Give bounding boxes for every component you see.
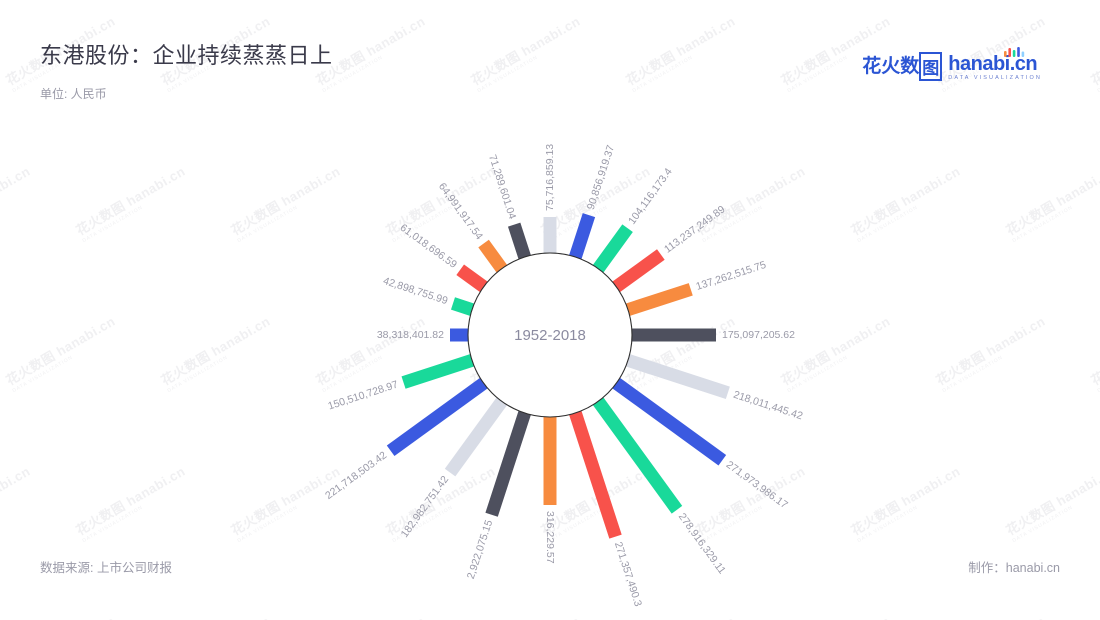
watermark-tile: 花火数图 hanabi.cnDATA VISUALIZATION	[847, 461, 966, 544]
radial-bar[interactable]	[508, 223, 531, 259]
radial-bar[interactable]	[613, 249, 665, 292]
watermark-tile: 花火数图 hanabi.cnDATA VISUALIZATION	[622, 11, 741, 94]
radial-bar-value-label: 316,229.57	[544, 511, 556, 564]
radial-bar[interactable]	[402, 354, 474, 389]
radial-bar-value-label: 271,973,986.17	[724, 459, 790, 512]
radial-bar[interactable]	[569, 213, 595, 259]
watermark-tile: 花火数图 hanabi.cnDATA VISUALIZATION	[1002, 461, 1100, 544]
radial-bar-chart-svg: 75,716,859.1390,856,919.37104,116,173.41…	[325, 110, 775, 560]
radial-bar-rect[interactable]	[632, 329, 716, 342]
watermark-tile: 花火数图 hanabi.cnDATA VISUALIZATION	[157, 311, 276, 394]
data-source-label: 数据来源: 上市公司财报	[40, 557, 172, 576]
radial-bar-value-label: 113,237,249.89	[662, 203, 728, 255]
radial-bar-rect[interactable]	[569, 213, 595, 259]
radial-bar-value-label: 218,011,445.42	[732, 389, 805, 423]
hanabi-logo: 花火数 图 hanabi.cn DATA VISUALIZATION	[862, 52, 1042, 81]
watermark-tile: 花火数图 hanabi.cnDATA VISUALIZATION	[932, 311, 1051, 394]
watermark-tile: 花火数图 hanabi.cnDATA VISUALIZATION	[312, 611, 431, 620]
watermark-tile: 花火数图 hanabi.cnDATA VISUALIZATION	[1087, 11, 1100, 94]
watermark-tile: 花火数图 hanabi.cnDATA VISUALIZATION	[467, 611, 586, 620]
watermark-tile: 花火数图 hanabi.cnDATA VISUALIZATION	[157, 611, 276, 620]
radial-bar-value-label: 271,357,490.3	[612, 540, 644, 608]
page-title: 东港股份：企业持续蒸蒸日上	[40, 38, 333, 70]
chart-inner-circle	[468, 253, 632, 417]
chart-unit-subtitle: 单位: 人民币	[40, 86, 110, 102]
radial-bar[interactable]	[485, 411, 530, 517]
watermark-tile: 花火数图 hanabi.cnDATA VISUALIZATION	[1087, 611, 1100, 620]
radial-bar-value-label: 2,922,075.15	[465, 518, 495, 580]
watermark-tile: 花火数图 hanabi.cnDATA VISUALIZATION	[1087, 311, 1100, 394]
logo-cn-boxed-label: 图	[922, 59, 939, 78]
radial-bar-value-label: 90,856,919.37	[585, 144, 617, 212]
watermark-tile: 花火数图 hanabi.cnDATA VISUALIZATION	[622, 611, 741, 620]
radial-bar[interactable]	[450, 329, 468, 342]
radial-bar-value-label: 278,916,329.11	[676, 511, 728, 577]
radial-bar[interactable]	[593, 224, 633, 272]
watermark-tile: 花火数图 hanabi.cnDATA VISUALIZATION	[847, 161, 966, 244]
radial-bar-value-label: 75,716,859.13	[544, 144, 556, 211]
watermark-tile: 花火数图 hanabi.cnDATA VISUALIZATION	[0, 161, 36, 244]
radial-bar-value-label: 38,318,401.82	[377, 329, 444, 341]
radial-bar-value-label: 137,262,515.75	[695, 259, 768, 293]
radial-bar-value-label: 64,991,917.54	[436, 181, 485, 243]
logo-cn-boxed-char: 图	[919, 52, 942, 81]
radial-bar-rect[interactable]	[485, 411, 530, 517]
radial-bar-rect[interactable]	[402, 354, 474, 389]
radial-bar-value-label: 61,018,696.59	[398, 222, 460, 271]
watermark-tile: 花火数图 hanabi.cnDATA VISUALIZATION	[467, 11, 586, 94]
sparkle-icon	[1002, 47, 1028, 57]
radial-bar-value-label: 150,510,728.97	[326, 378, 399, 412]
logo-cn-text: 花火数	[862, 57, 919, 76]
watermark-tile: 花火数图 hanabi.cnDATA VISUALIZATION	[72, 161, 191, 244]
radial-bar-value-label: 71,289,601.04	[486, 153, 518, 221]
radial-bar-rect[interactable]	[593, 224, 633, 272]
radial-bar-rect[interactable]	[613, 249, 665, 292]
radial-bar-value-label: 221,718,503.42	[323, 449, 389, 502]
radial-bar-rect[interactable]	[544, 417, 557, 505]
watermark-tile: 花火数图 hanabi.cnDATA VISUALIZATION	[2, 311, 121, 394]
watermark-tile: 花火数图 hanabi.cnDATA VISUALIZATION	[2, 611, 121, 620]
watermark-tile: 花火数图 hanabi.cnDATA VISUALIZATION	[777, 311, 896, 394]
radial-bar-rect[interactable]	[626, 283, 693, 316]
watermark-tile: 花火数图 hanabi.cnDATA VISUALIZATION	[932, 611, 1051, 620]
radial-bar[interactable]	[544, 417, 557, 505]
logo-latin-block: hanabi.cn DATA VISUALIZATION	[948, 54, 1042, 82]
radial-bar-rect[interactable]	[544, 217, 557, 253]
radial-bar-rect[interactable]	[450, 329, 468, 342]
watermark-tile: 花火数图 hanabi.cnDATA VISUALIZATION	[0, 461, 36, 544]
logo-latin-text: hanabi.cn	[948, 54, 1042, 74]
watermark-tile: 花火数图 hanabi.cnDATA VISUALIZATION	[1002, 161, 1100, 244]
credit-label: 制作：hanabi.cn	[968, 557, 1060, 576]
radial-bar[interactable]	[632, 329, 716, 342]
radial-bar-value-label: 42,898,755.99	[382, 275, 450, 307]
radial-bar[interactable]	[626, 354, 730, 399]
radial-bar[interactable]	[544, 217, 557, 253]
radial-bar[interactable]	[626, 283, 693, 316]
watermark-tile: 花火数图 hanabi.cnDATA VISUALIZATION	[777, 611, 896, 620]
radial-bar-value-label: 175,097,205.62	[722, 329, 795, 341]
logo-tagline: DATA VISUALIZATION	[948, 76, 1042, 82]
screenshot-canvas: 花火数图 hanabi.cnDATA VISUALIZATION花火数图 han…	[0, 0, 1100, 620]
watermark-tile: 花火数图 hanabi.cnDATA VISUALIZATION	[72, 461, 191, 544]
radial-bar-chart: 75,716,859.1390,856,919.37104,116,173.41…	[325, 110, 775, 560]
radial-bar-value-label: 182,982,751.42	[399, 474, 452, 540]
radial-bar-rect[interactable]	[508, 223, 531, 259]
radial-bar-value-label: 104,116,173.4	[626, 166, 675, 227]
radial-bar-rect[interactable]	[626, 354, 730, 399]
